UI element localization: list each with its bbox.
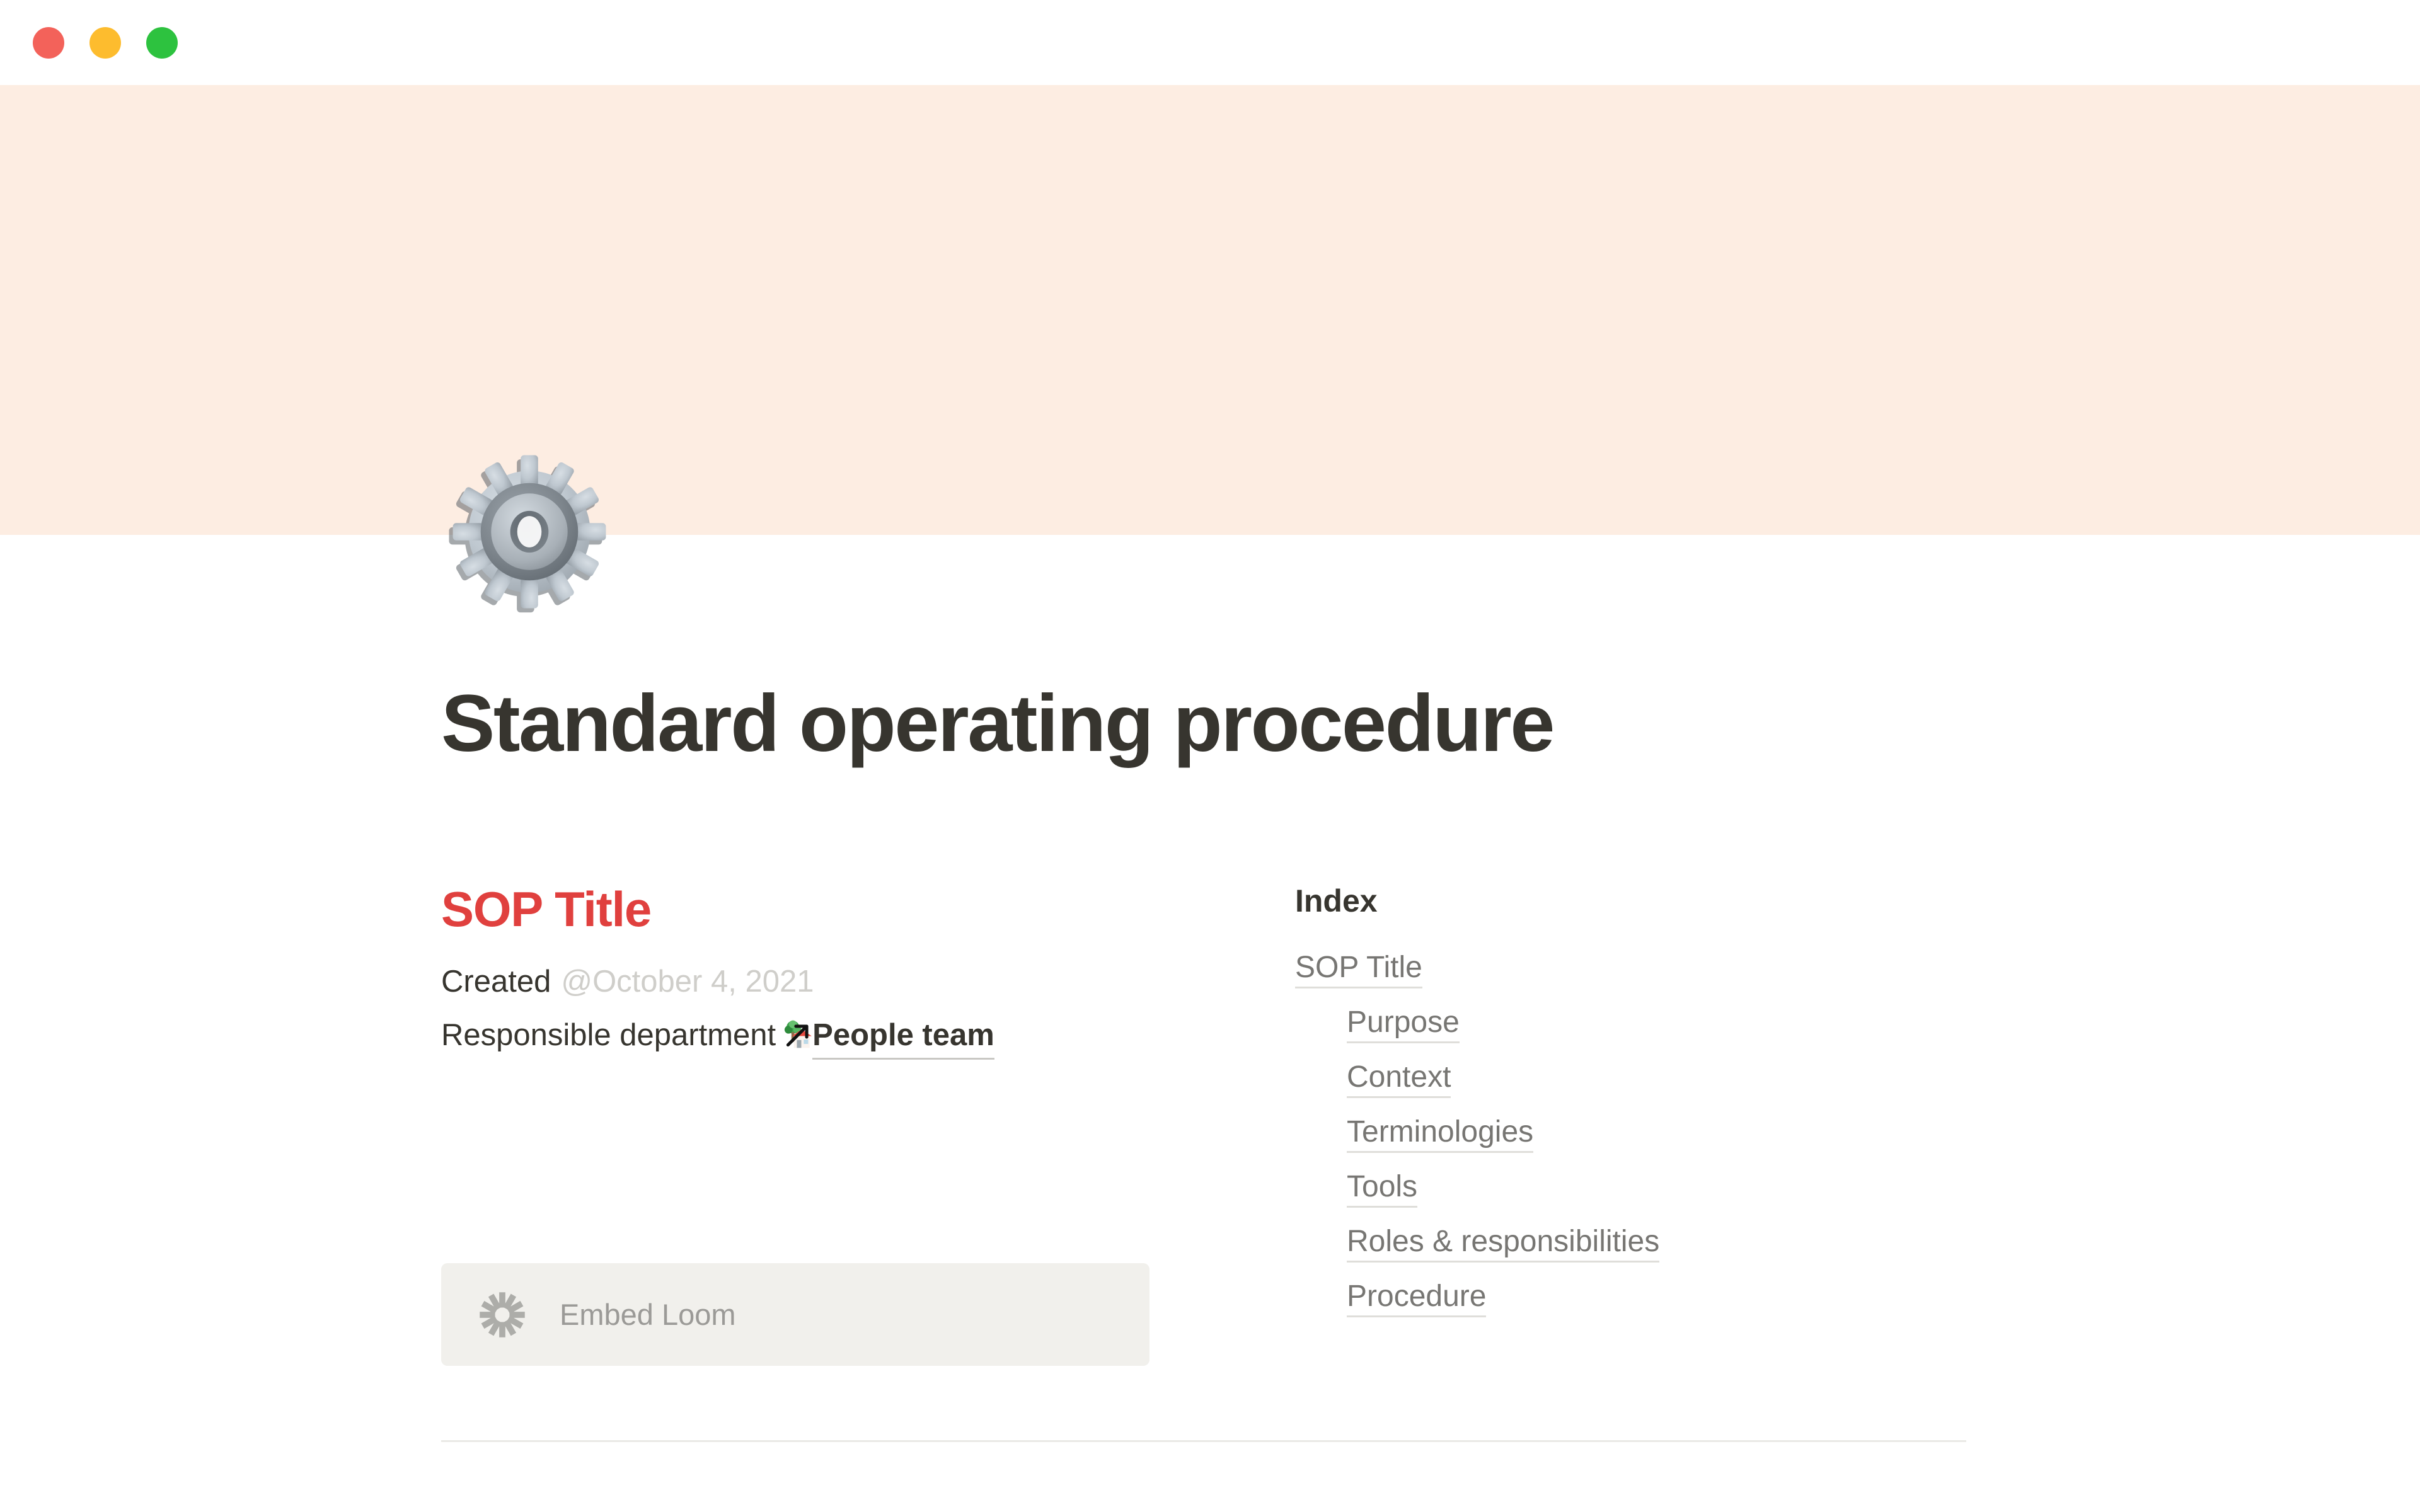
toc-item-label: Roles & responsibilities [1347,1223,1659,1263]
table-of-contents: SOP Title Purpose Context Terminologies … [1295,949,1966,1317]
toc-item-label: Terminologies [1347,1113,1533,1153]
toc-item-label: Tools [1347,1168,1417,1208]
created-label: Created [441,965,551,999]
window-controls [33,27,178,59]
created-value[interactable]: @October 4, 2021 [561,965,814,999]
window-titlebar [0,0,2420,85]
toc-item-label: SOP Title [1295,949,1422,988]
content-columns: SOP Title Created@October 4, 2021 Respon… [441,882,1966,1380]
toc-item-purpose[interactable]: Purpose [1347,1004,1966,1043]
maximize-window-button[interactable] [146,27,178,59]
toc-item-procedure[interactable]: Procedure [1347,1278,1966,1317]
toc-item-tools[interactable]: Tools [1347,1168,1966,1208]
house-with-garden-icon [782,1019,814,1051]
toc-item-sop-title[interactable]: SOP Title [1295,949,1966,988]
toc-item-label: Procedure [1347,1278,1486,1317]
loom-icon [478,1290,527,1339]
sop-title-heading[interactable]: SOP Title [441,882,1242,937]
embed-loom-label: Embed Loom [560,1300,736,1329]
index-heading: Index [1295,882,1966,920]
toc-item-label: Context [1347,1058,1451,1098]
people-team-link[interactable]: People team [812,1013,994,1060]
close-window-button[interactable] [33,27,64,59]
gear-icon[interactable] [442,445,616,619]
responsible-department-row: Responsible department [441,1013,1242,1060]
page-cover-banner[interactable] [0,85,2420,535]
toc-item-context[interactable]: Context [1347,1058,1966,1098]
minimize-window-button[interactable] [89,27,121,59]
right-column: Index SOP Title Purpose Context Terminol… [1242,882,1966,1332]
responsible-department-label: Responsible department [441,1018,776,1052]
toc-item-terminologies[interactable]: Terminologies [1347,1113,1966,1153]
embed-loom-block[interactable]: Embed Loom [441,1263,1149,1366]
page-title[interactable]: Standard operating procedure [441,676,2017,771]
left-column: SOP Title Created@October 4, 2021 Respon… [441,882,1242,1380]
created-row: Created@October 4, 2021 [441,959,1242,1004]
toc-item-roles-responsibilities[interactable]: Roles & responsibilities [1347,1223,1966,1263]
section-divider [441,1440,1966,1442]
app-window: Standard operating procedure SOP Title C… [0,0,2420,1512]
toc-item-label: Purpose [1347,1004,1460,1043]
